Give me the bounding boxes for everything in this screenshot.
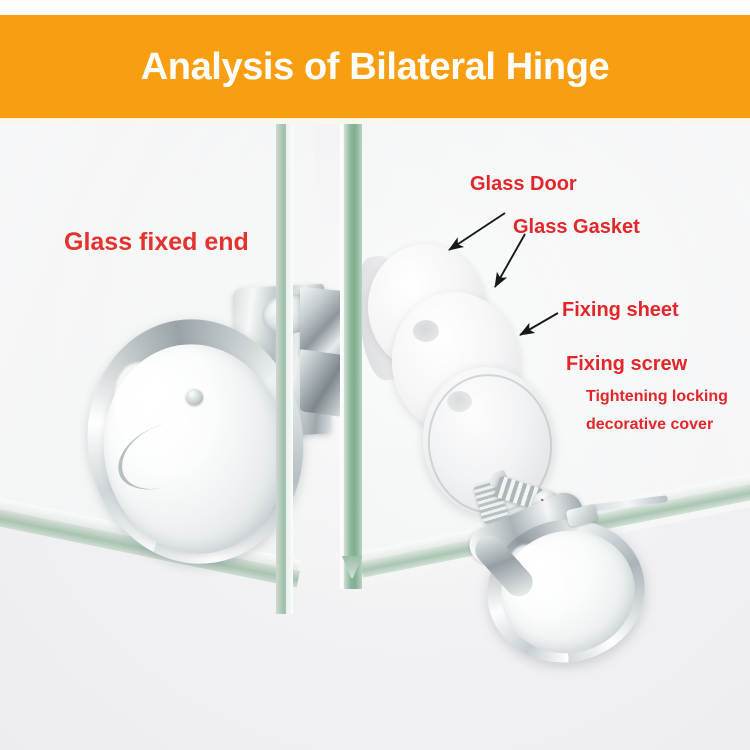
title-banner: Analysis of Bilateral Hinge xyxy=(0,15,750,118)
infographic-page: Analysis of Bilateral Hinge xyxy=(0,0,750,750)
hinge-clamp-lower xyxy=(300,349,342,417)
label-fixing-screw: Fixing screw xyxy=(566,353,687,376)
page-title: Analysis of Bilateral Hinge xyxy=(141,48,610,86)
glass-door-panel-edge xyxy=(344,124,362,589)
label-fixing-sheet: Fixing sheet xyxy=(562,299,679,322)
label-glass-gasket: Glass Gasket xyxy=(513,216,640,239)
label-glass-fixed-end: Glass fixed end xyxy=(64,228,249,257)
hinge-cap-screw xyxy=(186,389,203,405)
label-tightening-locking-line2: decorative cover xyxy=(586,416,713,434)
banner-top-strip xyxy=(0,0,750,15)
label-glass-door: Glass Door xyxy=(470,173,577,196)
glass-fixed-panel-edge-highlight xyxy=(286,124,293,614)
label-tightening-locking-line1: Tightening locking xyxy=(586,388,728,406)
fixing-sheet-dimple xyxy=(447,391,472,412)
glass-gasket-dimple xyxy=(413,320,439,342)
